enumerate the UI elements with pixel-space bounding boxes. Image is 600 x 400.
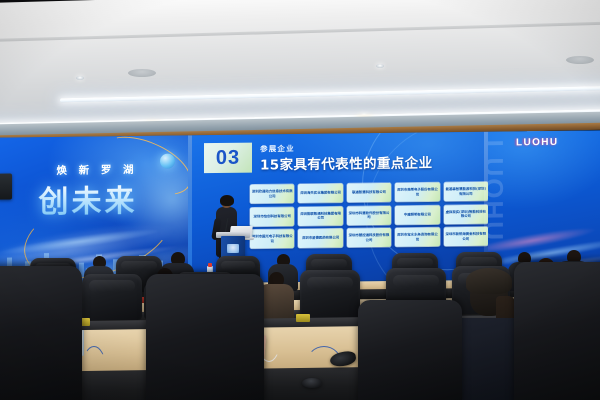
slide-title: 15家具有代表性的重点企业 <box>260 151 433 173</box>
desk-puck-device[interactable] <box>302 378 322 388</box>
slide-number-badge: 03 <box>204 143 252 174</box>
company-card: 虚拟现实(深圳)智能科技有限公司 <box>444 204 488 224</box>
company-card: 深圳市星德医药有限公司 <box>298 228 342 248</box>
company-card: 中建照明有限公司 <box>395 205 439 225</box>
company-card: 深圳市怡创科技有限公司 <box>250 207 294 227</box>
company-card: 深圳市宝水水务咨询有限公司 <box>395 227 439 247</box>
company-card: 深圳能联数通科技集团有限公司 <box>298 206 342 226</box>
ceiling-vent <box>128 69 156 77</box>
desk-label-strip <box>296 314 310 322</box>
conference-chair[interactable] <box>82 274 142 320</box>
company-card: 联通智慧科技有限公司 <box>347 183 391 203</box>
company-card-grid: 深圳欣通动力信息技术有限公司深圳海关实业集团有限公司联通智慧科技有限公司深圳市美… <box>250 182 488 249</box>
person-hat <box>466 268 512 294</box>
company-card-label: 深圳市怡创科技有限公司 <box>254 214 291 219</box>
company-card-label: 深圳市星德医药有限公司 <box>302 236 339 241</box>
company-card: 深圳欣通动力信息技术有限公司 <box>250 184 294 204</box>
company-card-label: 深圳市宝水水务咨询有限公司 <box>396 232 438 241</box>
company-card-label: 能基森智慧能源科技(深圳)有限公司 <box>445 187 487 196</box>
foreground-chair[interactable] <box>358 300 462 400</box>
company-card: 深圳市新锐海黄金科技有限公司 <box>444 227 488 247</box>
foreground-chair[interactable] <box>0 266 82 400</box>
company-card-label: 深圳市美莱电子股份有限公司 <box>396 187 438 196</box>
company-card: 深圳市慧控通科技股份有限公司 <box>347 228 391 248</box>
company-card: 深圳海关实业集团有限公司 <box>298 183 342 203</box>
company-card-label: 深圳市新锐海黄金科技有限公司 <box>445 232 487 241</box>
company-card-label: 中建照明有限公司 <box>404 212 431 217</box>
speaker-hair <box>220 195 234 206</box>
company-card-label: 深圳市国光电子科技有限公司 <box>251 234 293 243</box>
company-card-label: 深圳海关实业集团有限公司 <box>300 191 341 196</box>
foreground-chair[interactable] <box>514 262 600 400</box>
company-card: 深圳市美莱电子股份有限公司 <box>395 182 439 202</box>
ceiling-spotlight <box>76 76 84 80</box>
company-card-label: 深圳市科慧软件股份有限公司 <box>348 210 390 219</box>
company-card-label: 深圳市慧控通科技股份有限公司 <box>348 233 390 242</box>
company-card-label: 深圳能联数通科技集团有限公司 <box>299 211 341 220</box>
screenshot-root: 焕 新 罗 湖 创未来 03 参展企业 15家具有代表性的重点企业 深圳欣通动力… <box>0 0 600 400</box>
foreground-chair[interactable] <box>146 274 264 400</box>
company-card: 能基森智慧能源科技(深圳)有限公司 <box>444 182 488 202</box>
company-card-label: 联通智慧科技有限公司 <box>352 190 386 195</box>
company-card-label: 深圳欣通动力信息技术有限公司 <box>251 189 293 198</box>
ceiling-spotlight <box>376 64 384 68</box>
luohu-logo: LUOHU <box>516 137 559 149</box>
conference-chair[interactable] <box>300 270 360 318</box>
company-card: 深圳市国光电子科技有限公司 <box>250 229 294 249</box>
slide-number: 03 <box>216 146 240 169</box>
ceiling-vent <box>566 56 594 64</box>
company-card-label: 虚拟现实(深圳)智能科技有限公司 <box>445 209 487 218</box>
podium-emblem-icon <box>227 244 239 253</box>
company-card: 深圳市科慧软件股份有限公司 <box>347 205 391 225</box>
